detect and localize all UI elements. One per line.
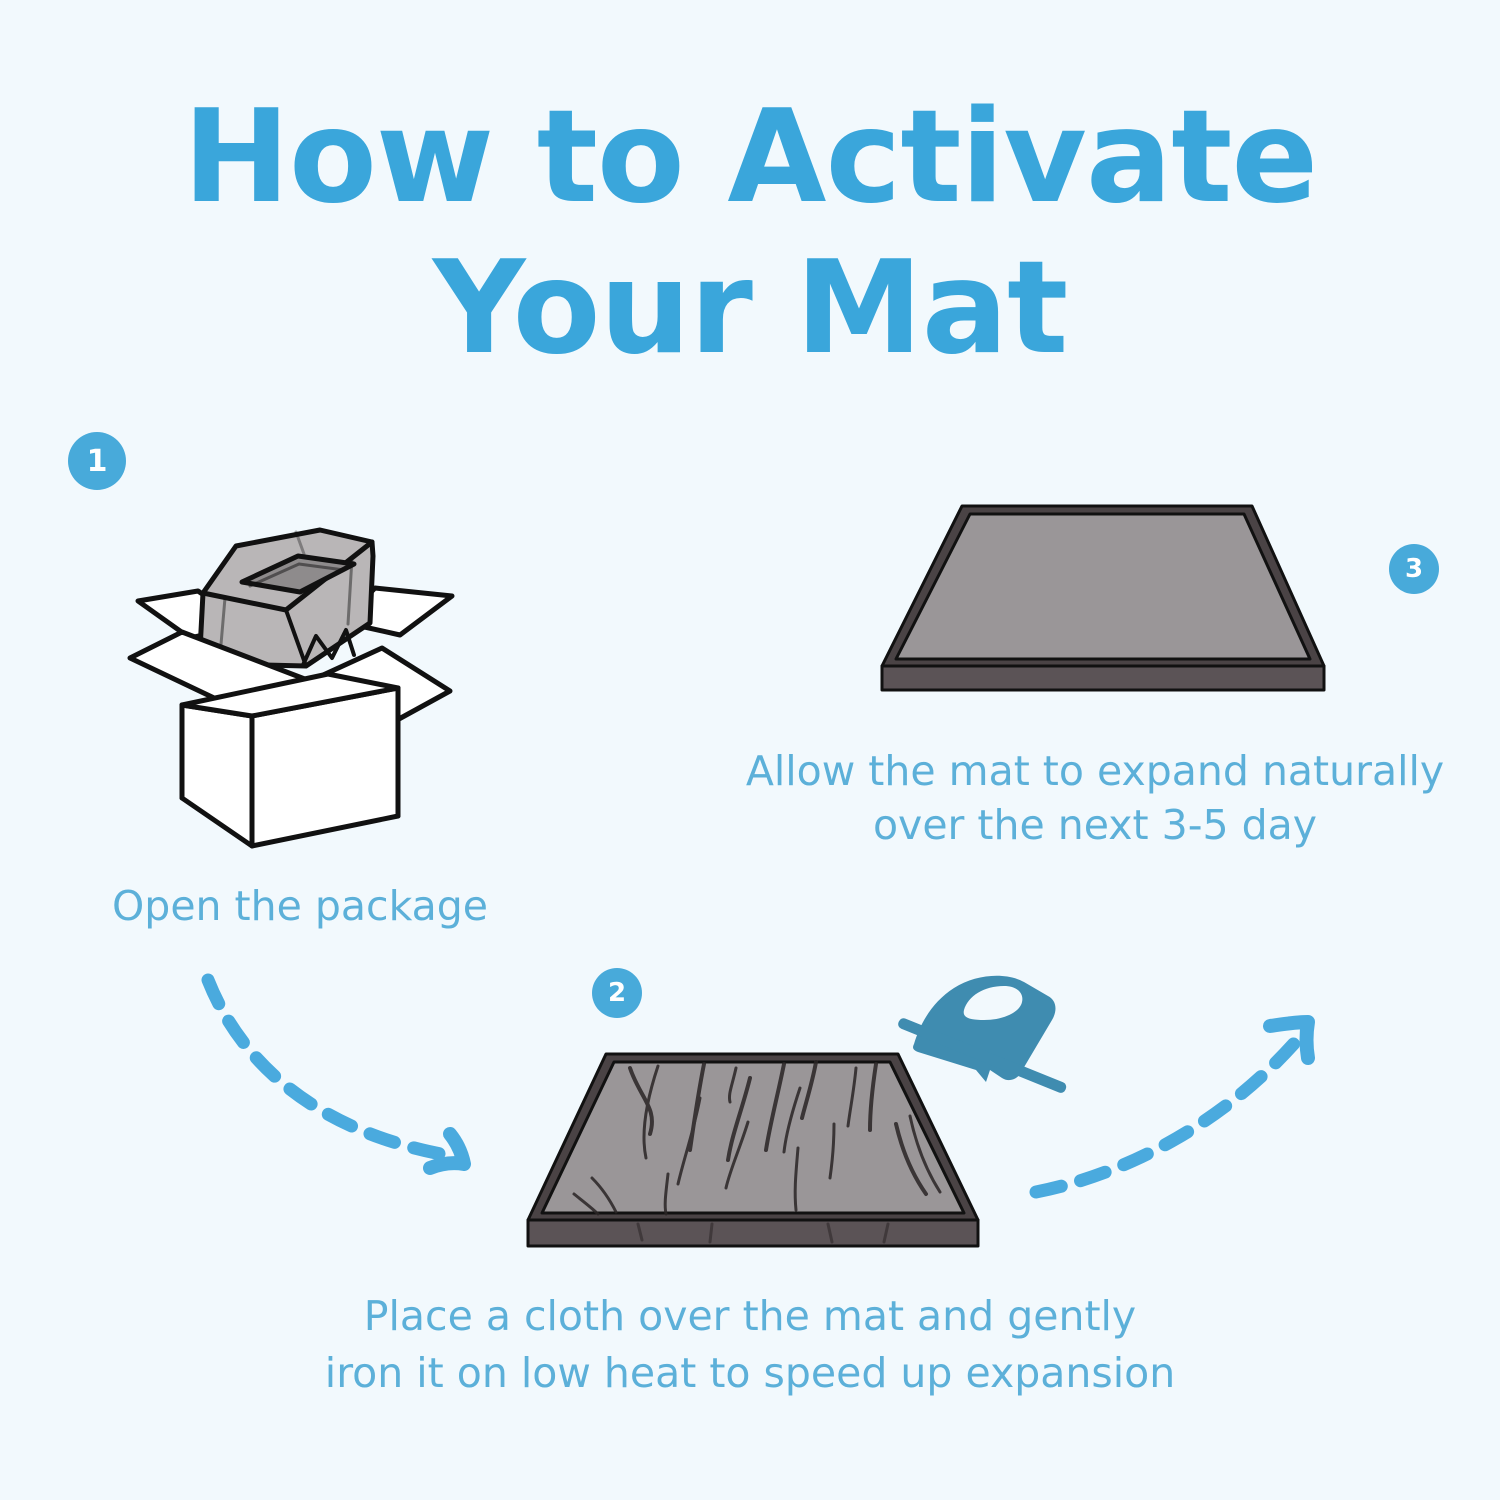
dashed-curved-arrow-down-right-icon: [168, 958, 518, 1218]
step-1-caption-text: Open the package: [112, 882, 488, 930]
step-3-caption: Allow the mat to expand naturally over t…: [700, 744, 1490, 852]
clothes-iron-icon: [872, 958, 1102, 1108]
infographic-canvas: How to Activate Your Mat 1: [0, 0, 1500, 1500]
step-3-caption-line-1: Allow the mat to expand naturally: [700, 744, 1490, 798]
dashed-curved-arrow-up-right-icon: [1008, 998, 1358, 1238]
flat-expanded-mat-icon: [858, 478, 1348, 718]
step-1-caption: Open the package: [40, 880, 560, 932]
step-3-badge-number: 3: [1405, 554, 1423, 584]
step-2-badge: 2: [592, 968, 642, 1018]
step-3-caption-line-2: over the next 3-5 day: [700, 798, 1490, 852]
wrinkled-mat-icon: [498, 1038, 1008, 1278]
page-title: How to Activate Your Mat: [0, 82, 1500, 384]
step-3-badge: 3: [1389, 544, 1439, 594]
step-1-badge: 1: [68, 432, 126, 490]
step-2-caption: Place a cloth over the mat and gently ir…: [255, 1288, 1245, 1401]
step-1-badge-number: 1: [87, 444, 108, 479]
page-title-line-1: How to Activate: [0, 82, 1500, 233]
open-cardboard-box-with-packaged-mat-icon: [120, 498, 490, 868]
step-2-badge-number: 2: [608, 978, 626, 1008]
step-2-caption-line-1: Place a cloth over the mat and gently: [255, 1288, 1245, 1345]
page-title-line-2: Your Mat: [0, 233, 1500, 384]
step-2-caption-line-2: iron it on low heat to speed up expansio…: [255, 1345, 1245, 1402]
